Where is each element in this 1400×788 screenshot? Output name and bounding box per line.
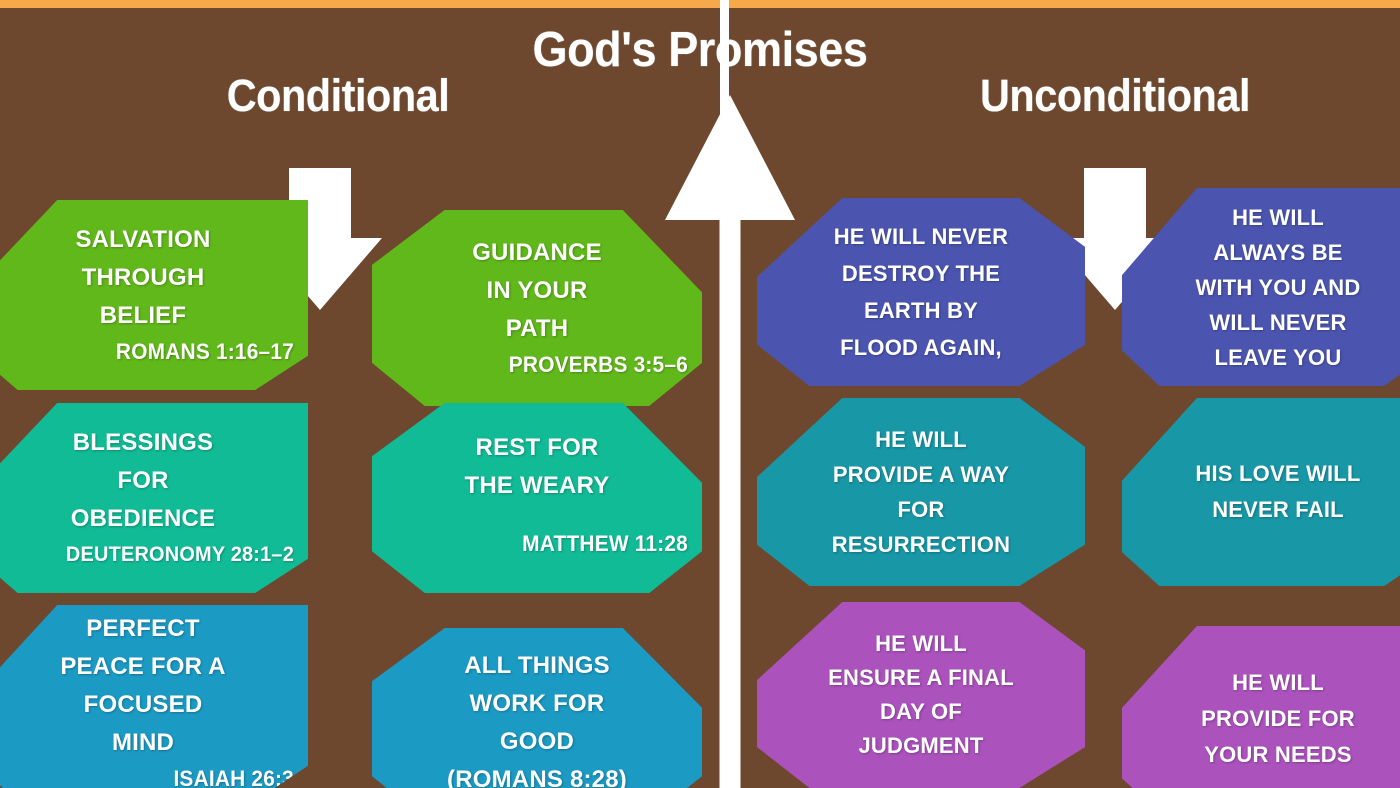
- promise-card[interactable]: HE WILLPROVIDE A WAYFORRESURRECTION: [757, 398, 1085, 586]
- promise-card[interactable]: HIS LOVE WILLNEVER FAIL: [1122, 398, 1400, 586]
- promise-card[interactable]: ALL THINGSWORK FORGOOD(ROMANS 8:28): [372, 628, 702, 788]
- promise-text: BLESSINGSFOROBEDIENCE: [0, 424, 294, 538]
- promise-card[interactable]: HE WILLENSURE A FINALDAY OFJUDGMENT: [757, 602, 1085, 788]
- promise-text: SALVATIONTHROUGHBELIEF: [0, 221, 294, 335]
- page-title: God's Promises: [516, 22, 884, 78]
- promise-reference: MATTHEW 11:28: [401, 527, 688, 561]
- top-accent-bar: [0, 0, 1400, 8]
- promise-card[interactable]: REST FORTHE WEARY MATTHEW 11:28: [372, 403, 702, 593]
- promise-text: HE WILLENSURE A FINALDAY OFJUDGMENT: [771, 627, 1071, 763]
- promise-reference: ROMANS 1:16–17: [7, 335, 294, 369]
- promise-card[interactable]: BLESSINGSFOROBEDIENCE DEUTERONOMY 28:1–2: [0, 403, 308, 593]
- promise-reference: ISAIAH 26:3: [7, 762, 294, 788]
- infographic-canvas: God's Promises Conditional Unconditional…: [0, 0, 1400, 788]
- promise-reference: DEUTERONOMY 28:1–2: [7, 538, 294, 572]
- left-column-title: Conditional: [126, 70, 549, 122]
- promise-text: HE WILLPROVIDE FORYOUR NEEDS: [1136, 665, 1400, 773]
- promise-text: HE WILL NEVERDESTROY THEEARTH BYFLOOD AG…: [771, 218, 1071, 366]
- promise-text: ALL THINGSWORK FORGOOD(ROMANS 8:28): [386, 647, 688, 788]
- promise-text: HE WILLPROVIDE A WAYFORRESURRECTION: [771, 422, 1071, 562]
- promise-text: PERFECTPEACE FOR AFOCUSEDMIND: [0, 610, 294, 762]
- promise-card[interactable]: HE WILLPROVIDE FORYOUR NEEDS: [1122, 626, 1400, 788]
- promise-reference: PROVERBS 3:5–6: [401, 348, 688, 382]
- promise-card[interactable]: PERFECTPEACE FOR AFOCUSEDMIND ISAIAH 26:…: [0, 605, 308, 788]
- promise-text: GUIDANCEIN YOURPATH: [386, 234, 688, 348]
- promise-text: HIS LOVE WILLNEVER FAIL: [1136, 456, 1400, 528]
- promise-text: HE WILLALWAYS BEWITH YOU ANDWILL NEVERLE…: [1136, 200, 1400, 375]
- right-column-title: Unconditional: [903, 70, 1326, 122]
- promise-card[interactable]: SALVATIONTHROUGHBELIEF ROMANS 1:16–17: [0, 200, 308, 390]
- promise-card[interactable]: HE WILL NEVERDESTROY THEEARTH BYFLOOD AG…: [757, 198, 1085, 386]
- promise-text: REST FORTHE WEARY: [386, 429, 688, 505]
- promise-card[interactable]: GUIDANCEIN YOURPATH PROVERBS 3:5–6: [372, 210, 702, 406]
